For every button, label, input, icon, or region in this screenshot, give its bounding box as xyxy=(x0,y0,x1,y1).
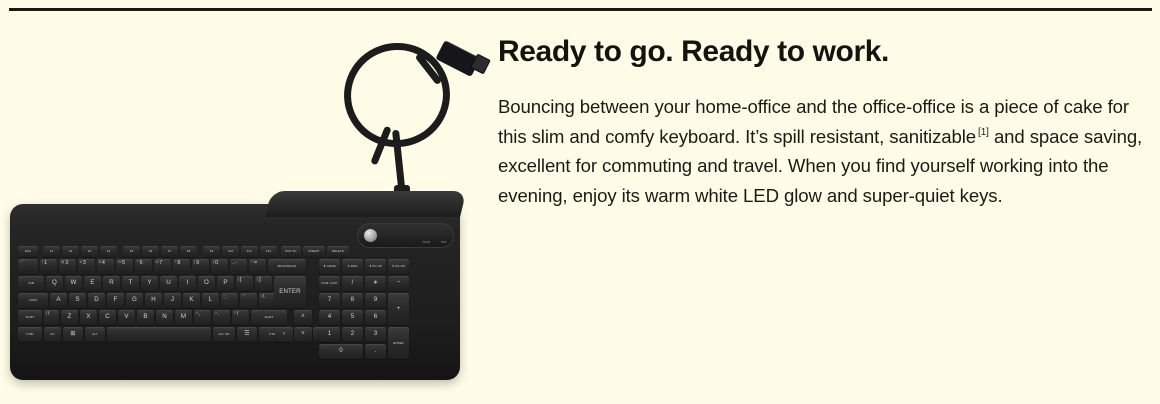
key-9[interactable]: (9 xyxy=(192,259,209,274)
key-label: S xyxy=(75,297,79,303)
key-blank[interactable]: / xyxy=(342,276,363,291)
key-label: 9 xyxy=(374,297,378,303)
key-label: ☰ xyxy=(244,331,250,337)
key-f12[interactable]: F12 xyxy=(260,246,277,257)
key-space[interactable] xyxy=(107,327,211,342)
key-alt-gr[interactable]: ALT GR xyxy=(213,327,235,342)
key-label: N xyxy=(162,314,167,320)
key-label: ‹ xyxy=(283,331,285,337)
key-blank[interactable]: ?/ xyxy=(232,310,249,325)
key-label: F9 xyxy=(210,250,214,253)
key-l[interactable]: L xyxy=(202,293,219,308)
key-label: V xyxy=(124,314,128,320)
key-label: M xyxy=(181,314,186,320)
key-lower-label: = xyxy=(253,261,257,267)
key-label: 4 xyxy=(328,314,332,320)
key-t[interactable]: T xyxy=(122,276,139,291)
page-title: Ready to go. Ready to work. xyxy=(498,34,1148,70)
key-9[interactable]: 9 xyxy=(365,293,386,308)
top-divider-rule xyxy=(9,8,1152,11)
key-5[interactable]: %5 xyxy=(116,259,133,274)
key-blank[interactable]: >. xyxy=(213,310,230,325)
key-prt-sc[interactable]: PRT SC xyxy=(281,246,301,257)
key-4[interactable]: $4 xyxy=(97,259,114,274)
key-label: F1 xyxy=(50,250,54,253)
key-label: W xyxy=(71,280,77,286)
key-lower-label: / xyxy=(236,312,239,318)
key-delete[interactable]: DELETE xyxy=(327,246,349,257)
key-blank[interactable]: ⊞ xyxy=(63,327,83,342)
key-v[interactable]: V xyxy=(118,310,135,325)
key-f[interactable]: F xyxy=(107,293,124,308)
key-label: I xyxy=(187,280,189,286)
key-label: SHIFT xyxy=(26,316,35,319)
key-label: . xyxy=(375,348,377,354)
key-f6[interactable]: F6 xyxy=(142,246,159,257)
key-o[interactable]: O xyxy=(198,276,215,291)
key-label: ENTER xyxy=(393,342,403,345)
key-label: F4 xyxy=(107,250,111,253)
key-label: ⬅ END xyxy=(348,265,358,268)
key-label: F3 xyxy=(88,250,92,253)
key-c[interactable]: C xyxy=(99,310,116,325)
key-2[interactable]: 2 xyxy=(342,327,363,342)
key-f3[interactable]: F3 xyxy=(81,246,98,257)
key-lower-label: , xyxy=(198,312,201,318)
key-j[interactable]: J xyxy=(164,293,181,308)
key-label: X xyxy=(86,314,90,320)
key-f7[interactable]: F7 xyxy=(161,246,178,257)
key-f11[interactable]: F11 xyxy=(241,246,258,257)
key-z[interactable]: Z xyxy=(61,310,78,325)
key-label: D xyxy=(94,297,99,303)
key-fn[interactable]: FN xyxy=(44,327,61,342)
key-label: NUM LOCK xyxy=(321,282,337,285)
key-lower-label: 6 xyxy=(139,261,143,267)
key-label: CTRL xyxy=(26,333,34,336)
key-label: ⬆ PG UP xyxy=(369,265,382,268)
key-label: ENTER xyxy=(279,289,300,295)
key-label: 6 xyxy=(374,314,378,320)
key-lower-label: ] xyxy=(258,278,261,284)
key-label: − xyxy=(397,280,401,286)
key-label: F7 xyxy=(168,250,172,253)
key-label: F xyxy=(114,297,118,303)
key-lower-label: 5 xyxy=(121,261,125,267)
key-f10[interactable]: F10 xyxy=(222,246,239,257)
key-end[interactable]: ⬅ END xyxy=(342,259,363,274)
key-shift[interactable]: SHIFT xyxy=(251,310,287,325)
key-label: K xyxy=(189,297,193,303)
key-5[interactable]: 5 xyxy=(342,310,363,325)
key-caps[interactable]: CAPS xyxy=(18,293,48,308)
key-r[interactable]: R xyxy=(103,276,120,291)
key-blank[interactable]: "' xyxy=(240,293,257,308)
key-6[interactable]: 6 xyxy=(365,310,386,325)
key-label: 5 xyxy=(351,314,355,320)
key-label: ˅ xyxy=(301,331,305,337)
key-label: Z xyxy=(68,314,72,320)
key-lower-label: - xyxy=(234,261,237,267)
key-b[interactable]: B xyxy=(137,310,154,325)
usb-cable xyxy=(330,35,490,210)
key-f2[interactable]: F2 xyxy=(62,246,79,257)
key-blank[interactable]: ˄ xyxy=(294,310,312,325)
key-home[interactable]: ⬆ HOME xyxy=(319,259,340,274)
key-w[interactable]: W xyxy=(65,276,82,291)
key-label: F12 xyxy=(266,250,271,253)
key-blank[interactable]: . xyxy=(365,344,386,359)
key-lower-label: 3 xyxy=(82,261,86,267)
key-blank[interactable]: _- xyxy=(230,259,247,274)
key-enter[interactable]: ENTER xyxy=(388,327,409,359)
key-label: / xyxy=(352,280,354,286)
promo-text-column: Ready to go. Ready to work. Bouncing bet… xyxy=(498,34,1148,210)
key-insert[interactable]: INSERT xyxy=(303,246,325,257)
key-label: C xyxy=(105,314,110,320)
key-1[interactable]: 1 xyxy=(319,327,340,342)
key-label: L xyxy=(209,297,213,303)
key-label: J xyxy=(171,297,174,303)
key-i[interactable]: I xyxy=(179,276,196,291)
key-label: ESC xyxy=(25,250,31,253)
key-label: SHIFT xyxy=(265,316,274,319)
key-label: 2 xyxy=(351,331,355,337)
key-backspace[interactable]: BACKSPACE xyxy=(268,259,306,274)
key-label: CAPS xyxy=(29,299,37,302)
footnote-marker[interactable]: [1] xyxy=(976,127,989,138)
key-blank[interactable]: ∗ xyxy=(365,276,386,291)
key-blank[interactable]: ☰ xyxy=(237,327,257,342)
key-h[interactable]: H xyxy=(145,293,162,308)
key-label: TAB xyxy=(28,282,34,285)
key-e[interactable]: E xyxy=(84,276,101,291)
key-label: Y xyxy=(147,280,151,286)
key-lower-label: \ xyxy=(262,295,265,301)
key-3[interactable]: 3 xyxy=(365,327,386,342)
key-blank[interactable]: ‹ xyxy=(275,327,293,342)
key-a[interactable]: A xyxy=(50,293,67,308)
key-pg-dn[interactable]: ⬇ PG DN xyxy=(388,259,409,274)
key-label: U xyxy=(166,280,171,286)
key-label: ˄ xyxy=(301,314,305,320)
key-label: F8 xyxy=(187,250,191,253)
key-label: FN xyxy=(50,333,54,336)
key-6[interactable]: ^6 xyxy=(135,259,152,274)
key-blank[interactable]: += xyxy=(249,259,266,274)
key-label: B xyxy=(143,314,147,320)
key-label: Q xyxy=(52,280,57,286)
key-lower-label: 7 xyxy=(158,261,162,267)
key-f4[interactable]: F4 xyxy=(100,246,117,257)
key-2[interactable]: @2 xyxy=(59,259,76,274)
key-y[interactable]: Y xyxy=(141,276,158,291)
key-alt[interactable]: ALT xyxy=(85,327,105,342)
key-blank[interactable]: <, xyxy=(194,310,211,325)
key-enter[interactable]: ENTER xyxy=(274,276,306,308)
key-n[interactable]: N xyxy=(156,310,173,325)
key-label: 3 xyxy=(374,331,378,337)
key-blank[interactable]: ~` xyxy=(18,259,38,274)
key-blank[interactable]: }] xyxy=(255,276,272,291)
key-label: H xyxy=(151,297,156,303)
key-p[interactable]: P xyxy=(217,276,234,291)
key-lower-label: 0 xyxy=(214,261,218,267)
key-shift[interactable]: SHIFT xyxy=(18,310,42,325)
key-label: PRT SC xyxy=(285,250,296,253)
key-lower-label: [ xyxy=(239,278,242,284)
key-s[interactable]: S xyxy=(69,293,86,308)
key-label: A xyxy=(56,297,60,303)
key-label: F6 xyxy=(149,250,153,253)
key-lower-label: ` xyxy=(22,261,25,267)
key-8[interactable]: *8 xyxy=(173,259,190,274)
key-tab[interactable]: TAB xyxy=(18,276,44,291)
key-q[interactable]: Q xyxy=(46,276,63,291)
key-label: ALT xyxy=(92,333,97,336)
key-label: DELETE xyxy=(332,250,344,253)
key-ctrl[interactable]: CTRL xyxy=(18,327,42,342)
key-3[interactable]: #3 xyxy=(78,259,95,274)
key-blank[interactable]: :; xyxy=(221,293,238,308)
key-x[interactable]: X xyxy=(80,310,97,325)
key-label: INSERT xyxy=(308,250,319,253)
key-7[interactable]: 7 xyxy=(319,293,340,308)
key-f5[interactable]: F5 xyxy=(123,246,140,257)
key-label: + xyxy=(397,306,401,312)
keyboard-key-plate: ESCF1F2F3F4F5F6F7F8F9F10F11F12PRT SCINSE… xyxy=(15,222,455,362)
key-label: BACKSPACE xyxy=(278,265,297,268)
key-0[interactable]: )0 xyxy=(211,259,228,274)
key-f1[interactable]: F1 xyxy=(43,246,60,257)
key-lower-label: 4 xyxy=(101,261,105,267)
key-u[interactable]: U xyxy=(160,276,177,291)
key-lower-label: 2 xyxy=(64,261,68,267)
key-blank[interactable]: + xyxy=(388,293,409,325)
key-blank[interactable]: {[ xyxy=(236,276,253,291)
key-label: ⬇ PG DN xyxy=(392,265,405,268)
key-lower-label: \ xyxy=(47,312,50,318)
key-k[interactable]: K xyxy=(183,293,200,308)
key-blank[interactable]: ˅ xyxy=(294,327,312,342)
key-num-lock[interactable]: NUM LOCK xyxy=(319,276,340,291)
key-lower-label: 8 xyxy=(176,261,180,267)
key-label: F11 xyxy=(247,250,252,253)
product-image-keyboard: ···NUMINS ESCF1F2F3F4F5F6F7F8F9F10F11F12… xyxy=(0,30,480,390)
key-label: 1 xyxy=(328,331,332,337)
key-label: P xyxy=(223,280,227,286)
key-label: R xyxy=(109,280,114,286)
key-pg-up[interactable]: ⬆ PG UP xyxy=(365,259,386,274)
promo-banner: ···NUMINS ESCF1F2F3F4F5F6F7F8F9F10F11F12… xyxy=(0,0,1160,404)
key-label: ⊞ xyxy=(70,331,75,337)
key-label: ∗ xyxy=(373,280,378,286)
key-label: E xyxy=(90,280,94,286)
key-g[interactable]: G xyxy=(126,293,143,308)
keyboard-top-ridge xyxy=(265,191,466,217)
key-f9[interactable]: F9 xyxy=(203,246,220,257)
key-8[interactable]: 8 xyxy=(342,293,363,308)
key-label: 7 xyxy=(328,297,332,303)
key-label: 0 xyxy=(339,348,343,354)
body-paragraph: Bouncing between your home-office and th… xyxy=(498,92,1148,210)
key-label: F5 xyxy=(130,250,134,253)
key-lower-label: ' xyxy=(243,295,245,301)
key-4[interactable]: 4 xyxy=(319,310,340,325)
key-7[interactable]: &7 xyxy=(154,259,171,274)
key-1[interactable]: !1 xyxy=(40,259,57,274)
key-lower-label: ; xyxy=(224,295,227,301)
key-label: 8 xyxy=(351,297,355,303)
key-label: F2 xyxy=(69,250,73,253)
key-0[interactable]: 0 xyxy=(319,344,363,359)
key-esc[interactable]: ESC xyxy=(18,246,38,257)
key-label: ⬆ HOME xyxy=(323,265,336,268)
key-lower-label: 9 xyxy=(195,261,199,267)
key-lower-label: . xyxy=(217,312,220,318)
key-f8[interactable]: F8 xyxy=(180,246,197,257)
key-d[interactable]: D xyxy=(88,293,105,308)
key-label: O xyxy=(204,280,209,286)
keyboard-body: ···NUMINS ESCF1F2F3F4F5F6F7F8F9F10F11F12… xyxy=(10,204,460,380)
key-label: T xyxy=(129,280,133,286)
key-label: ALT GR xyxy=(219,333,230,336)
key-label: G xyxy=(132,297,137,303)
key-blank[interactable]: |\ xyxy=(44,310,59,325)
key-m[interactable]: M xyxy=(175,310,192,325)
key-label: F10 xyxy=(228,250,233,253)
key-lower-label: 1 xyxy=(43,261,47,267)
key-blank[interactable]: − xyxy=(388,276,409,291)
